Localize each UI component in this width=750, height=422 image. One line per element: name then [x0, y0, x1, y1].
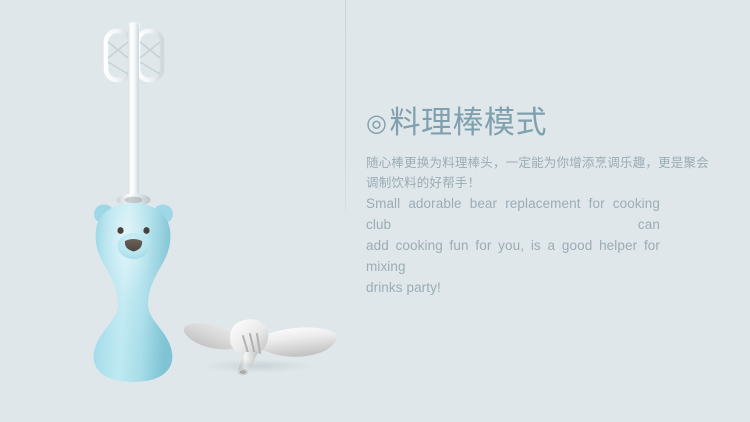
- description-cn-line-2: 调制饮料的好帮手！: [366, 174, 660, 194]
- description-en-line-2: add cooking fun for you, is a good helpe…: [366, 235, 660, 277]
- right-eye: [143, 227, 149, 234]
- text-panel: ◎ 料理棒模式 随心棒更换为料理棒头，一定能为你增添烹调乐趣，更是聚会 调制饮料…: [366, 104, 686, 298]
- left-eye: [117, 227, 123, 234]
- description-en-line-3: drinks party!: [366, 277, 660, 298]
- whisk-shaft: [128, 22, 139, 200]
- description-cn-line-1: 随心棒更换为料理棒头，一定能为你增添烹调乐趣，更是聚会: [366, 154, 660, 174]
- bear-body: [94, 203, 173, 382]
- product-showcase-slide: ◎ 料理棒模式 随心棒更换为料理棒头，一定能为你增添烹调乐趣，更是聚会 调制饮料…: [0, 0, 750, 422]
- description-block: 随心棒更换为料理棒头，一定能为你增添烹调乐趣，更是聚会 调制饮料的好帮手！ Sm…: [366, 154, 660, 298]
- vertical-divider: [345, 0, 346, 213]
- target-circle-icon: ◎: [366, 112, 387, 136]
- description-en-line-1: Small adorable bear replacement for cook…: [366, 193, 660, 235]
- heading-text: 料理棒模式: [389, 104, 547, 142]
- section-heading: ◎ 料理棒模式: [366, 104, 686, 142]
- propeller-attachment: [184, 319, 337, 375]
- product-photo: [0, 0, 345, 422]
